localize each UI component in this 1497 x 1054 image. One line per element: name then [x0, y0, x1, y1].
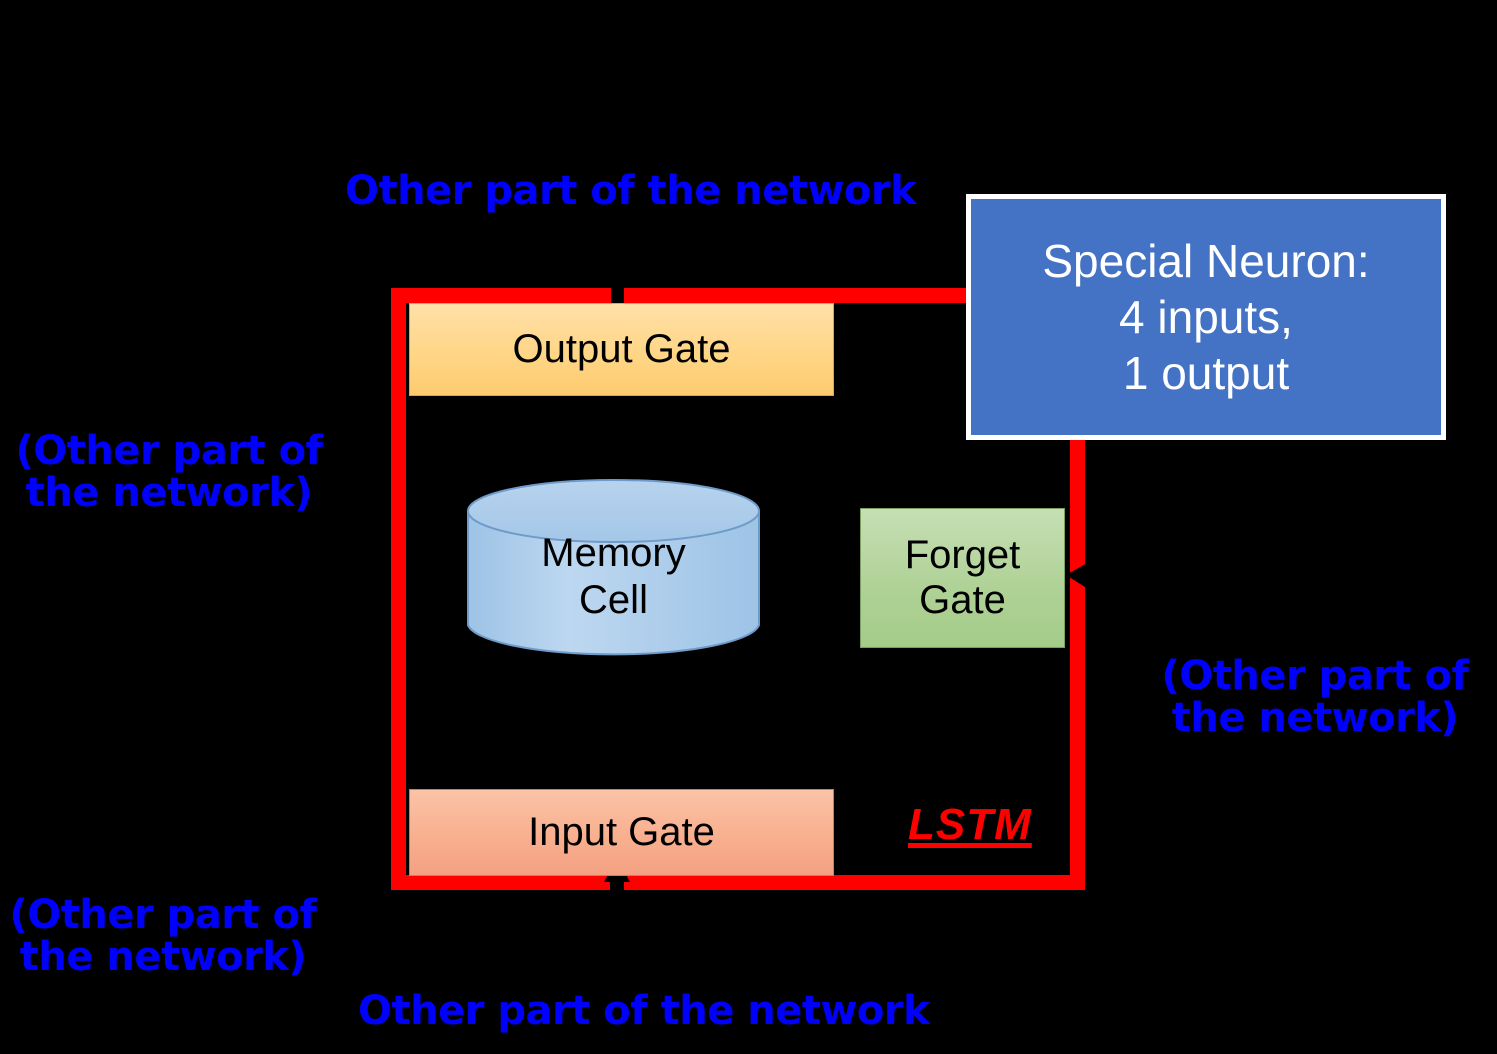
lstm-diagram-canvas: Other part of the network (Other part of…	[0, 0, 1497, 1054]
input-gate[interactable]: Input Gate	[409, 789, 834, 876]
input-gate-label: Input Gate	[528, 810, 715, 855]
annotation-right-middle: (Other part of the network)	[1150, 655, 1480, 740]
annotation-left-bottom: (Other part of the network)	[8, 894, 318, 979]
annotation-top: Other part of the network	[345, 170, 916, 212]
lstm-caption: LSTM	[908, 800, 1032, 850]
forget-gate[interactable]: Forget Gate	[860, 508, 1065, 648]
forget-gate-label: Forget Gate	[905, 533, 1021, 623]
annotation-bottom: Other part of the network	[358, 990, 929, 1032]
memory-cell[interactable]: Memory Cell	[466, 478, 761, 658]
output-gate-label: Output Gate	[513, 327, 731, 372]
output-gate[interactable]: Output Gate	[409, 303, 834, 396]
special-neuron-callout: Special Neuron: 4 inputs, 1 output	[966, 194, 1446, 440]
memory-cell-label: Memory Cell	[466, 530, 761, 624]
special-neuron-text: Special Neuron: 4 inputs, 1 output	[1042, 233, 1369, 401]
annotation-left-middle: (Other part of the network)	[14, 430, 324, 515]
